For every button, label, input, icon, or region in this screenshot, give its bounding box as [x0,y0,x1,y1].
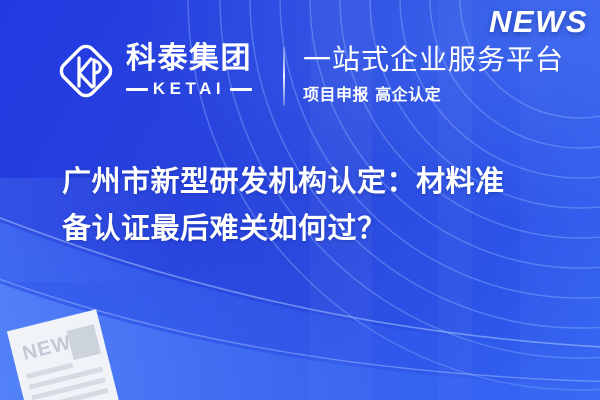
logo-dash-left-icon [126,88,148,91]
ketai-diamond-kp-logo-icon [57,40,115,102]
slogan-block: 一站式企业服务平台 项目申报 高企认定 [303,44,564,105]
logo-company-name-en: KETAI [153,79,225,99]
slogan-primary: 一站式企业服务平台 [303,44,564,75]
newspaper-document-icon: NEWS [13,312,121,400]
page-title: 广州市新型研发机构认定：材料准 备认证最后难关如何过？ [62,158,567,252]
banner-header: 科泰集团 KETAI 一站式企业服务平台 项目申报 高企认定 NEWS [0,0,600,140]
logo-company-name-en-row: KETAI [126,79,252,99]
news-banner-image: 科泰集团 KETAI 一站式企业服务平台 项目申报 高企认定 NEWS 广州市新… [0,0,600,400]
brand-logo[interactable]: 科泰集团 KETAI [57,40,252,102]
vertical-divider-icon [283,47,285,106]
news-badge: NEWS [489,4,588,40]
logo-company-name-cn: 科泰集团 [126,43,252,75]
slogan-secondary: 项目申报 高企认定 [303,81,564,105]
logo-dash-right-icon [230,88,252,91]
headline-line-2: 备认证最后难关如何过？ [62,205,567,252]
headline-line-1: 广州市新型研发机构认定：材料准 [62,158,567,205]
